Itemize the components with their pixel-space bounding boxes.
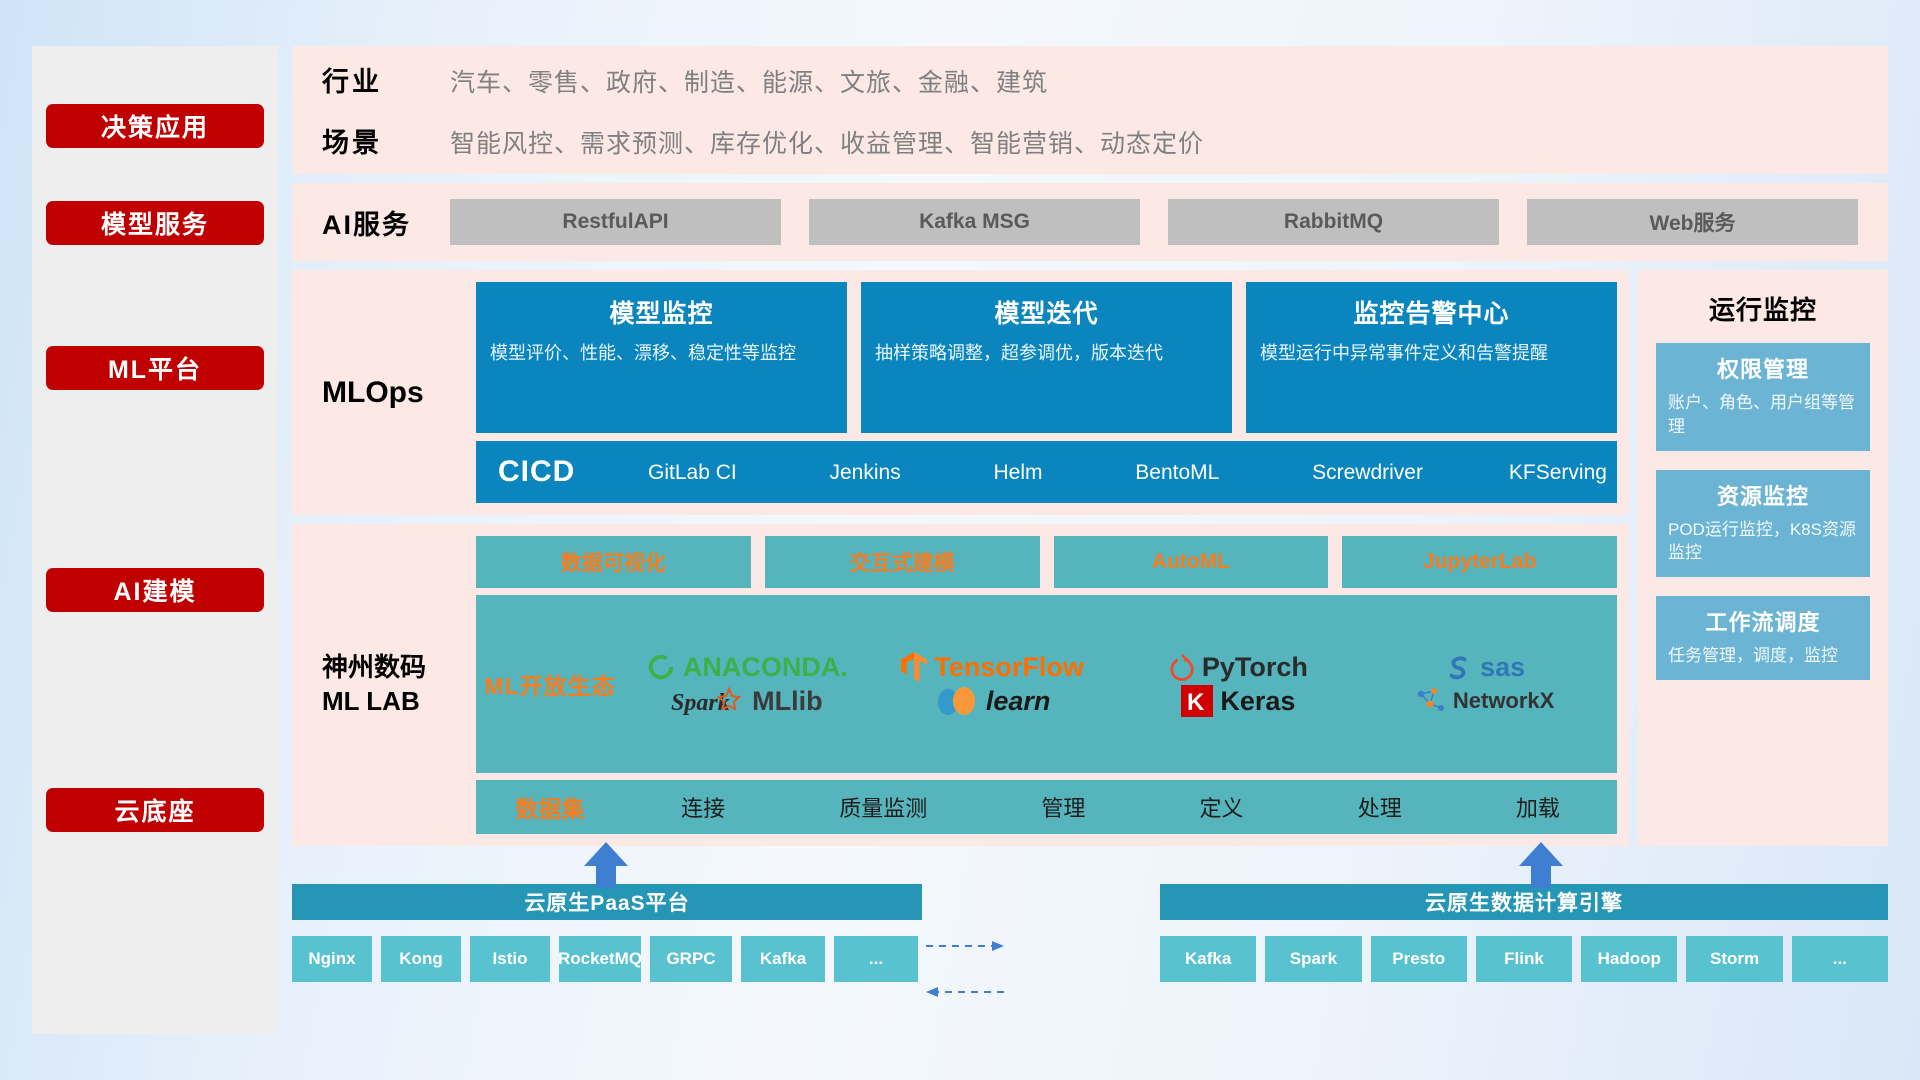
paas-chip-grpc[interactable]: GRPC — [650, 936, 732, 982]
monitor-card-workflow[interactable]: 工作流调度 任务管理，调度，监控 — [1656, 596, 1870, 680]
card-title: 资源监控 — [1668, 479, 1858, 511]
sas-icon — [1443, 652, 1473, 682]
layer-pill-ml-platform[interactable]: ML平台 — [46, 346, 264, 390]
architecture-diagram: 决策应用 模型服务 ML平台 AI建模 云底座 行业 汽车、零售、政府、制造、能… — [0, 0, 1920, 1080]
scikit-learn-logo: learn — [935, 684, 1051, 718]
dataset-item-process[interactable]: 处理 — [1358, 791, 1402, 823]
up-arrow-icon-compute — [1517, 840, 1565, 888]
dataset-item-load[interactable]: 加载 — [1516, 791, 1560, 823]
paas-chip-kong[interactable]: Kong — [381, 936, 461, 982]
service-chip-rabbitmq[interactable]: RabbitMQ — [1168, 199, 1499, 245]
compute-chip-presto[interactable]: Presto — [1371, 936, 1467, 982]
card-title: 监控告警中心 — [1260, 294, 1603, 330]
ml-ecosystem-row: ML开放生态 ANACONDA. — [476, 595, 1617, 773]
service-chip-kafka-msg[interactable]: Kafka MSG — [809, 199, 1140, 245]
card-desc: 账户、角色、用户组等管理 — [1668, 391, 1858, 439]
dataset-label: 数据集 — [476, 790, 624, 824]
cicd-item-kfserving[interactable]: KFServing — [1509, 462, 1607, 483]
decision-applications-band: 行业 汽车、零售、政府、制造、能源、文旅、金融、建筑 场景 智能风控、需求预测、… — [292, 46, 1888, 174]
cicd-bar: CICD GitLab CI Jenkins Helm BentoML Scre… — [476, 441, 1617, 503]
platform-region: MLOps 模型监控 模型评价、性能、漂移、稳定性等监控 模型迭代 抽样策略调整… — [292, 270, 1888, 846]
compute-chip-kafka[interactable]: Kafka — [1160, 936, 1256, 982]
layer-pill-decision-apps[interactable]: 决策应用 — [46, 104, 264, 148]
ml-ecosystem-label: ML开放生态 — [476, 667, 624, 701]
tool-chip-interactive-modeling[interactable]: 交互式建模 — [765, 536, 1040, 588]
service-chip-web[interactable]: Web服务 — [1527, 199, 1858, 245]
paas-chip-more[interactable]: ... — [834, 936, 918, 982]
service-chip-restfulapi[interactable]: RestfulAPI — [450, 199, 781, 245]
card-desc: 模型评价、性能、漂移、稳定性等监控 — [490, 340, 833, 366]
card-desc: POD运行监控，K8S资源监控 — [1668, 518, 1858, 566]
mlops-band: MLOps 模型监控 模型评价、性能、漂移、稳定性等监控 模型迭代 抽样策略调整… — [292, 270, 1629, 515]
tool-chip-data-visualization[interactable]: 数据可视化 — [476, 536, 751, 588]
layer-label-rail: 决策应用 模型服务 ML平台 AI建模 云底座 — [32, 46, 278, 1034]
anaconda-logo: ANACONDA. — [646, 652, 848, 683]
ml-lab-brand: 神州数码 ML LAB — [322, 536, 476, 834]
cicd-item-jenkins[interactable]: Jenkins — [830, 462, 901, 483]
layer-pill-label: AI建模 — [113, 572, 196, 608]
up-arrow-icon-paas — [582, 840, 630, 888]
paas-column: 云原生PaaS平台 Nginx Kong Istio RocketMQ GRPC… — [292, 884, 922, 1034]
scenario-row: 场景 智能风控、需求预测、库存优化、收益管理、智能营销、动态定价 — [322, 121, 1204, 160]
networkx-logo: NetworkX — [1414, 686, 1554, 716]
card-title: 工作流调度 — [1668, 605, 1858, 637]
tool-chip-automl[interactable]: AutoML — [1054, 536, 1329, 588]
mlops-label: MLOps — [322, 282, 476, 503]
compute-chip-spark[interactable]: Spark — [1265, 936, 1361, 982]
brand-line-2: ML LAB — [322, 685, 476, 719]
compute-chip-hadoop[interactable]: Hadoop — [1581, 936, 1677, 982]
keras-logo: K Keras — [1181, 685, 1295, 717]
mlops-card-model-iteration[interactable]: 模型迭代 抽样策略调整，超参调优，版本迭代 — [861, 282, 1232, 433]
layer-pill-label: ML平台 — [108, 350, 202, 386]
mlops-card-model-monitoring[interactable]: 模型监控 模型评价、性能、漂移、稳定性等监控 — [476, 282, 847, 433]
svg-text:K: K — [1187, 689, 1205, 716]
keras-icon: K — [1181, 685, 1213, 717]
runtime-monitor-panel: 运行监控 权限管理 账户、角色、用户组等管理 资源监控 POD运行监控，K8S资… — [1638, 270, 1888, 846]
compute-chip-storm[interactable]: Storm — [1686, 936, 1782, 982]
ai-service-band: AI服务 RestfulAPI Kafka MSG RabbitMQ Web服务 — [292, 183, 1888, 261]
card-title: 权限管理 — [1668, 352, 1858, 384]
compute-engine-title: 云原生数据计算引擎 — [1160, 884, 1888, 920]
paas-title: 云原生PaaS平台 — [292, 884, 922, 920]
runtime-monitor-title: 运行监控 — [1656, 290, 1870, 327]
brand-line-1: 神州数码 — [322, 651, 476, 685]
pytorch-logo: PyTorch — [1169, 652, 1308, 683]
layer-pill-label: 云底座 — [114, 792, 195, 828]
scenario-values: 智能风控、需求预测、库存优化、收益管理、智能营销、动态定价 — [450, 124, 1204, 160]
svg-text:Spark: Spark — [671, 690, 730, 716]
monitor-card-permission[interactable]: 权限管理 账户、角色、用户组等管理 — [1656, 343, 1870, 451]
industry-row: 行业 汽车、零售、政府、制造、能源、文旅、金融、建筑 — [322, 60, 1204, 99]
mlops-card-alert-center[interactable]: 监控告警中心 模型运行中异常事件定义和告警提醒 — [1246, 282, 1617, 433]
runtime-monitor-rail: 运行监控 权限管理 账户、角色、用户组等管理 资源监控 POD运行监控，K8S资… — [1638, 270, 1888, 846]
card-desc: 抽样策略调整，超参调优，版本迭代 — [875, 340, 1218, 366]
ai-modeling-band: 神州数码 ML LAB 数据可视化 交互式建模 AutoML JupyterLa… — [292, 524, 1629, 846]
ai-service-label: AI服务 — [322, 203, 450, 242]
layer-pill-cloud-foundation[interactable]: 云底座 — [46, 788, 264, 832]
tensorflow-logo: TensorFlow — [901, 652, 1084, 683]
networkx-icon — [1414, 686, 1446, 716]
spark-mllib-logo: Spark MLlib — [671, 685, 822, 717]
tensorflow-icon — [901, 652, 927, 682]
layer-pill-label: 决策应用 — [101, 108, 209, 144]
industry-label: 行业 — [322, 60, 450, 99]
paas-chip-nginx[interactable]: Nginx — [292, 936, 372, 982]
paas-chip-kafka[interactable]: Kafka — [741, 936, 825, 982]
industry-values: 汽车、零售、政府、制造、能源、文旅、金融、建筑 — [450, 63, 1048, 99]
layer-pill-ai-modeling[interactable]: AI建模 — [46, 568, 264, 612]
cicd-item-bentoml[interactable]: BentoML — [1135, 462, 1219, 483]
layer-pill-model-service[interactable]: 模型服务 — [46, 201, 264, 245]
cicd-item-helm[interactable]: Helm — [993, 462, 1042, 483]
pytorch-icon — [1169, 652, 1195, 682]
cloud-foundation-region: 云原生PaaS平台 Nginx Kong Istio RocketMQ GRPC… — [292, 884, 1888, 1034]
dataset-item-connect[interactable]: 连接 — [681, 791, 725, 823]
compute-engine-column: 云原生数据计算引擎 Kafka Spark Presto Flink Hadoo… — [1160, 884, 1888, 1034]
paas-chip-istio[interactable]: Istio — [470, 936, 550, 982]
card-title: 模型迭代 — [875, 294, 1218, 330]
monitor-card-resource[interactable]: 资源监控 POD运行监控，K8S资源监控 — [1656, 470, 1870, 578]
layer-pill-label: 模型服务 — [101, 205, 209, 241]
dataset-item-manage[interactable]: 管理 — [1041, 791, 1085, 823]
cicd-title: CICD — [498, 455, 648, 489]
cicd-item-gitlab-ci[interactable]: GitLab CI — [648, 462, 737, 483]
dataset-row: 数据集 连接 质量监测 管理 定义 处理 加载 — [476, 780, 1617, 834]
dataset-item-quality-monitor[interactable]: 质量监测 — [839, 791, 927, 823]
card-desc: 模型运行中异常事件定义和告警提醒 — [1260, 340, 1603, 366]
compute-chip-more[interactable]: ... — [1792, 936, 1888, 982]
sas-logo: sas — [1443, 652, 1525, 683]
dataset-item-define[interactable]: 定义 — [1200, 791, 1244, 823]
scikit-icon — [935, 684, 979, 718]
scenario-label: 场景 — [322, 121, 450, 160]
card-title: 模型监控 — [490, 294, 833, 330]
content-stack: 行业 汽车、零售、政府、制造、能源、文旅、金融、建筑 场景 智能风控、需求预测、… — [292, 46, 1888, 1034]
tool-chip-jupyterlab[interactable]: JupyterLab — [1342, 536, 1617, 588]
compute-chip-flink[interactable]: Flink — [1476, 936, 1572, 982]
spark-icon: Spark — [671, 685, 745, 717]
anaconda-icon — [646, 652, 676, 682]
paas-chip-rocketmq[interactable]: RocketMQ — [559, 936, 641, 982]
card-desc: 任务管理，调度，监控 — [1668, 644, 1858, 668]
cicd-item-screwdriver[interactable]: Screwdriver — [1312, 462, 1416, 483]
